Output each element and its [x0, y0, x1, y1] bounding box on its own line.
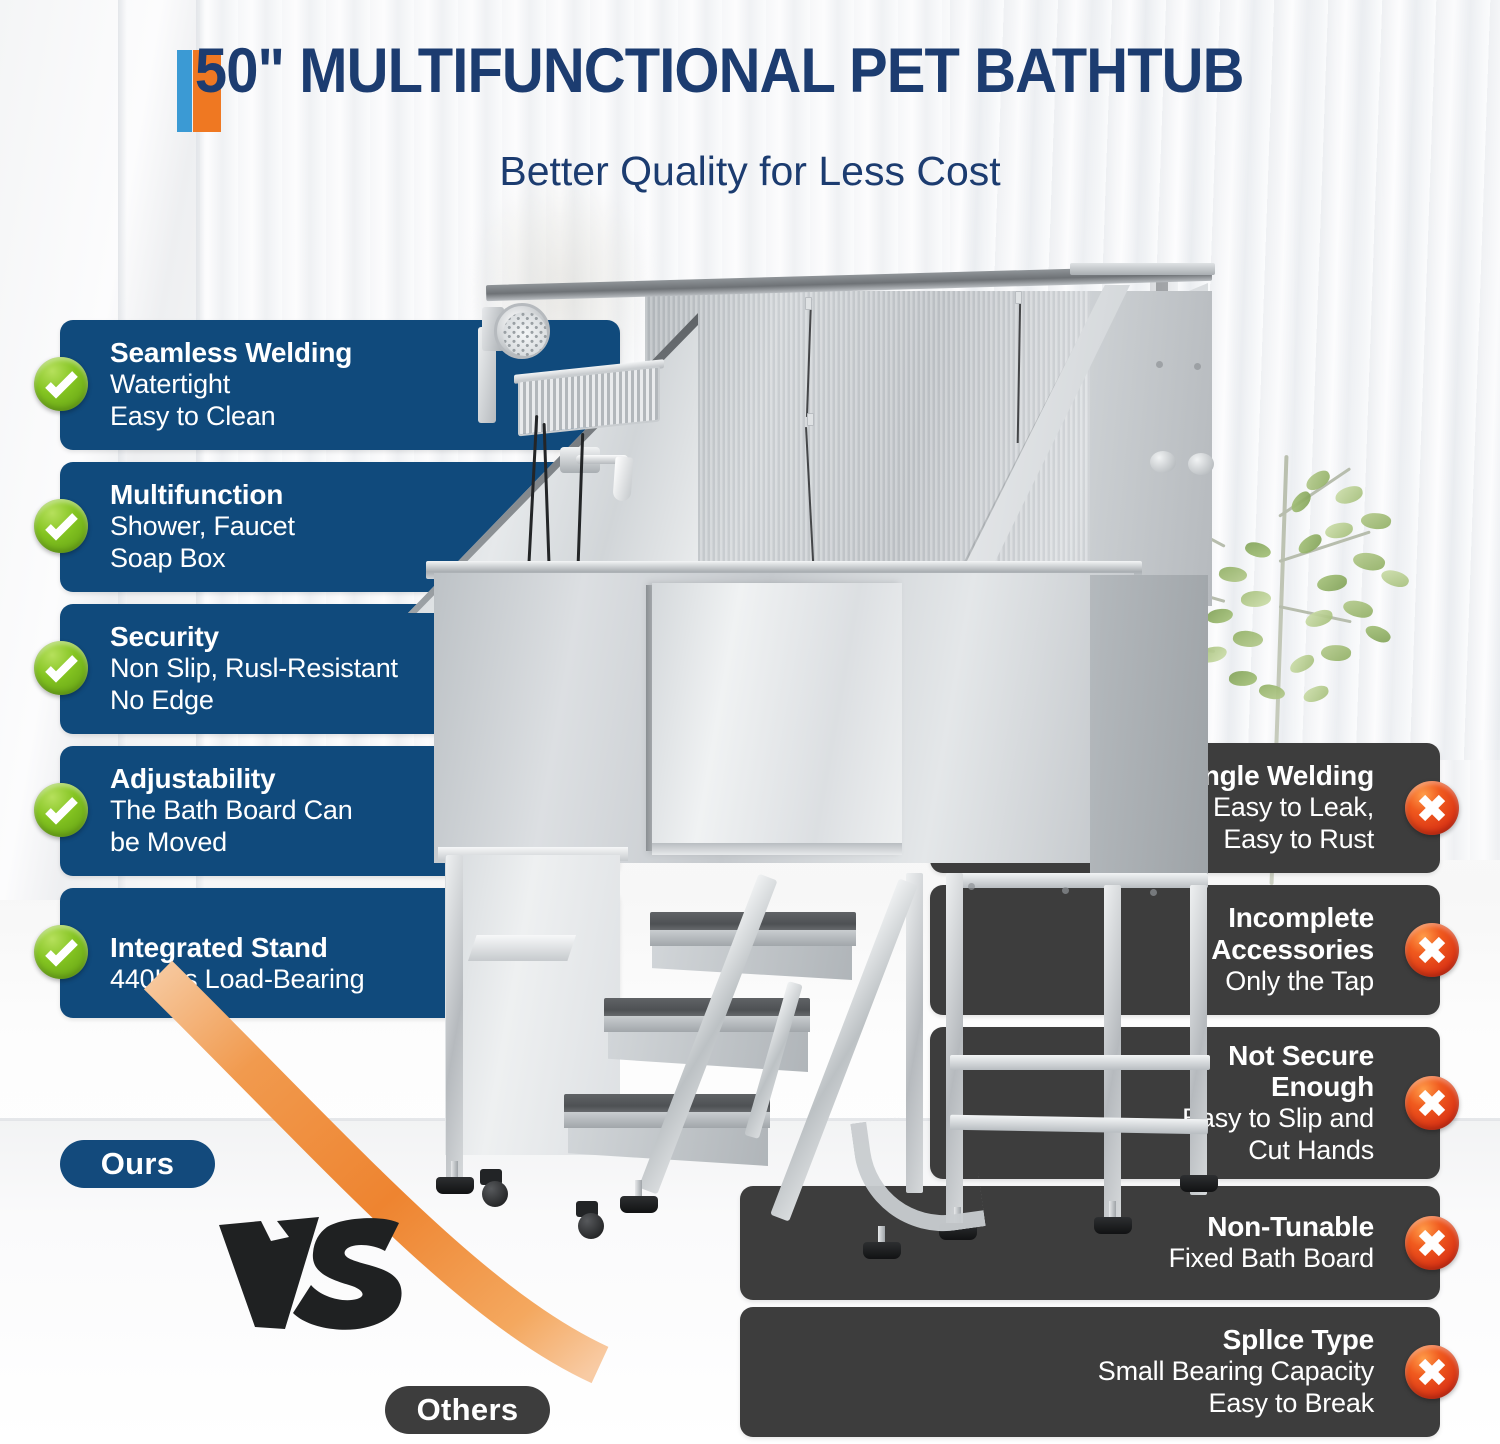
- leash-clip: [805, 297, 812, 310]
- stair-curved-support: [850, 1107, 986, 1243]
- adjustable-foot: [1094, 1217, 1132, 1234]
- pro-text-block: Security Non Slip, Rusl-Resistant No Edg…: [60, 621, 412, 716]
- con-heading-line-1: Not Secure: [1182, 1040, 1374, 1072]
- con-line-2: Easy to Break: [1098, 1388, 1374, 1420]
- con-text-block: Spllce Type Small Bearing Capacity Easy …: [1084, 1324, 1440, 1419]
- others-label: Others: [417, 1392, 519, 1428]
- con-line-1: Easy to Leak,: [1183, 792, 1374, 824]
- screw-dot: [1194, 363, 1201, 370]
- screw-dot: [1156, 361, 1163, 368]
- shower-head-icon: [494, 303, 550, 359]
- pro-text-block: Seamless Welding Watertight Easy to Clea…: [60, 337, 366, 432]
- pro-text-block: Integrated Stand 440Lbs Load-Bearing: [60, 910, 378, 995]
- screw-dot: [1150, 889, 1157, 896]
- con-heading: Spllce Type: [1098, 1324, 1374, 1356]
- check-circle-icon: [34, 499, 88, 553]
- page-title: 50" MULTIFUNCTIONAL PET BATHTUB: [171, 40, 1244, 103]
- check-circle-icon: [34, 783, 88, 837]
- pro-line-1: Watertight: [110, 369, 352, 401]
- top-edge-rail-right: [1070, 263, 1215, 275]
- adjustable-foot: [1180, 1175, 1218, 1192]
- cross-circle-icon: [1405, 1076, 1459, 1130]
- con-heading-line-2: Enough: [1182, 1071, 1374, 1103]
- basin-right-side: [1090, 575, 1208, 875]
- con-line-1: Easy to Slip and: [1182, 1103, 1374, 1135]
- bath-board-bottom-rail: [652, 843, 902, 855]
- pro-line-1: Shower, Faucet: [110, 511, 295, 543]
- con-heading-line-2: Accessories: [1211, 934, 1374, 966]
- pro-heading: Integrated Stand: [110, 932, 364, 964]
- stand-leg: [1190, 885, 1207, 1195]
- pro-heading: Multifunction: [110, 479, 295, 511]
- pro-line-1: The Bath Board Can: [110, 795, 353, 827]
- adjustable-foot: [863, 1242, 901, 1259]
- others-badge: Others: [385, 1386, 550, 1434]
- pro-line-2: Soap Box: [110, 543, 295, 575]
- pro-line-2: No Edge: [110, 685, 398, 717]
- ours-label: Ours: [101, 1146, 175, 1182]
- check-circle-icon: [34, 357, 88, 411]
- con-line-1: Only the Tap: [1211, 966, 1374, 998]
- wall-knob: [1188, 453, 1214, 475]
- infographic-canvas: Seamless Welding Watertight Easy to Clea…: [0, 0, 1500, 1444]
- con-line-2: Cut Hands: [1182, 1135, 1374, 1167]
- pro-text-block: Multifunction Shower, Faucet Soap Box: [60, 479, 309, 574]
- pro-heading: Adjustability: [110, 763, 353, 795]
- cross-circle-icon: [1405, 923, 1459, 977]
- cross-circle-icon: [1405, 781, 1459, 835]
- screw-dot: [1062, 887, 1069, 894]
- pro-heading: Security: [110, 621, 398, 653]
- adjustable-foot: [620, 1196, 658, 1213]
- pro-line-1: Non Slip, Rusl-Resistant: [110, 653, 398, 685]
- title-area: 50" MULTIFUNCTIONAL PET BATHTUB: [0, 40, 1500, 103]
- shower-nozzle-face: [503, 312, 547, 356]
- wall-knob: [1150, 451, 1176, 473]
- pro-line-2: Easy to Clean: [110, 401, 352, 433]
- leash-clip: [807, 413, 814, 426]
- side-cabinet-handle: [468, 935, 576, 961]
- vs-logo: [215, 1215, 405, 1333]
- check-circle-icon: [34, 641, 88, 695]
- page-subtitle: Better Quality for Less Cost: [0, 148, 1500, 195]
- pet-stairs: [590, 860, 1020, 1280]
- leash-clip: [1015, 291, 1022, 304]
- con-heading-line-1: Incomplete: [1211, 902, 1374, 934]
- con-line-2: Easy to Rust: [1183, 824, 1374, 856]
- pro-text-block: Adjustability The Bath Board Can be Move…: [60, 763, 367, 858]
- pro-heading: Seamless Welding: [110, 337, 352, 369]
- con-line-1: Small Bearing Capacity: [1098, 1356, 1374, 1388]
- faucet-handle: [612, 456, 633, 501]
- con-callout-spllce-type[interactable]: Spllce Type Small Bearing Capacity Easy …: [740, 1307, 1440, 1437]
- con-text-block: Incomplete Accessories Only the Tap: [1197, 902, 1440, 997]
- pro-line-2: be Moved: [110, 827, 353, 859]
- cross-circle-icon: [1405, 1345, 1459, 1399]
- check-circle-icon: [34, 925, 88, 979]
- cross-circle-icon: [1405, 1216, 1459, 1270]
- ours-badge: Ours: [60, 1140, 215, 1188]
- bath-board: [652, 583, 902, 853]
- splash-right-wall: [1090, 291, 1212, 606]
- con-heading: Angle Welding: [1183, 760, 1374, 792]
